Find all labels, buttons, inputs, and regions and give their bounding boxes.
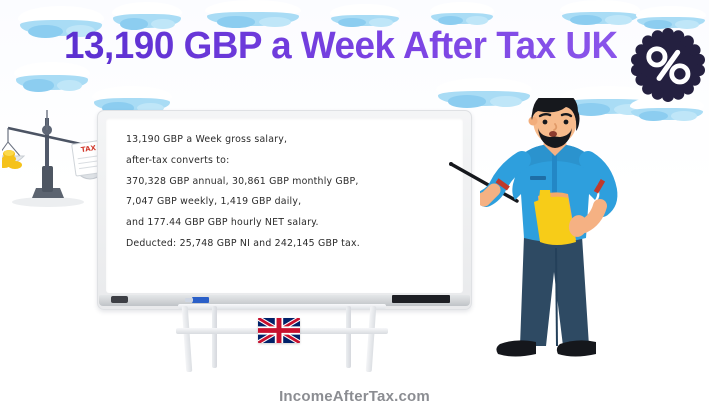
eraser-icon [111,296,128,303]
percent-badge-icon [631,28,705,102]
whiteboard: 13,190 GBP a Week gross salary, after-ta… [97,110,472,310]
cloud-icon [430,2,494,24]
whiteboard-surface: 13,190 GBP a Week gross salary, after-ta… [106,118,463,293]
page-title: 13,190 GBP a Week After Tax UK [64,24,617,68]
whiteboard-text: 13,190 GBP a Week gross salary, after-ta… [126,130,453,255]
stand-inner-leg-right [346,306,351,368]
whiteboard-line-4: 7,047 GBP weekly, 1,419 GBP daily, [126,192,453,213]
cloud-icon [330,4,400,26]
teacher-illustration [480,98,630,383]
stand-inner-leg-left [212,306,217,368]
whiteboard-line-6: Deducted: 25,748 GBP NI and 242,145 GBP … [126,234,453,255]
whiteboard-line-2: after-tax converts to: [126,151,453,172]
uk-flag-icon [258,318,300,343]
cloud-icon [205,0,301,26]
whiteboard-stand [150,306,410,372]
cloud-icon [636,6,706,28]
whiteboard-line-1: 13,190 GBP a Week gross salary, [126,130,453,151]
whiteboard-line-5: and 177.44 GBP GBP hourly NET salary. [126,213,453,234]
blue-marker-icon [192,297,209,303]
stand-leg-right [366,306,377,372]
stand-top-bar [178,304,386,309]
black-marker-icon [392,295,450,303]
whiteboard-line-3: 370,328 GBP annual, 30,861 GBP monthly G… [126,172,453,193]
cloud-icon [560,0,640,24]
infographic-canvas: 13,190 GBP a Week After Tax UK [0,0,709,419]
site-watermark: IncomeAfterTax.com [0,388,709,405]
stand-leg-left [182,306,193,372]
